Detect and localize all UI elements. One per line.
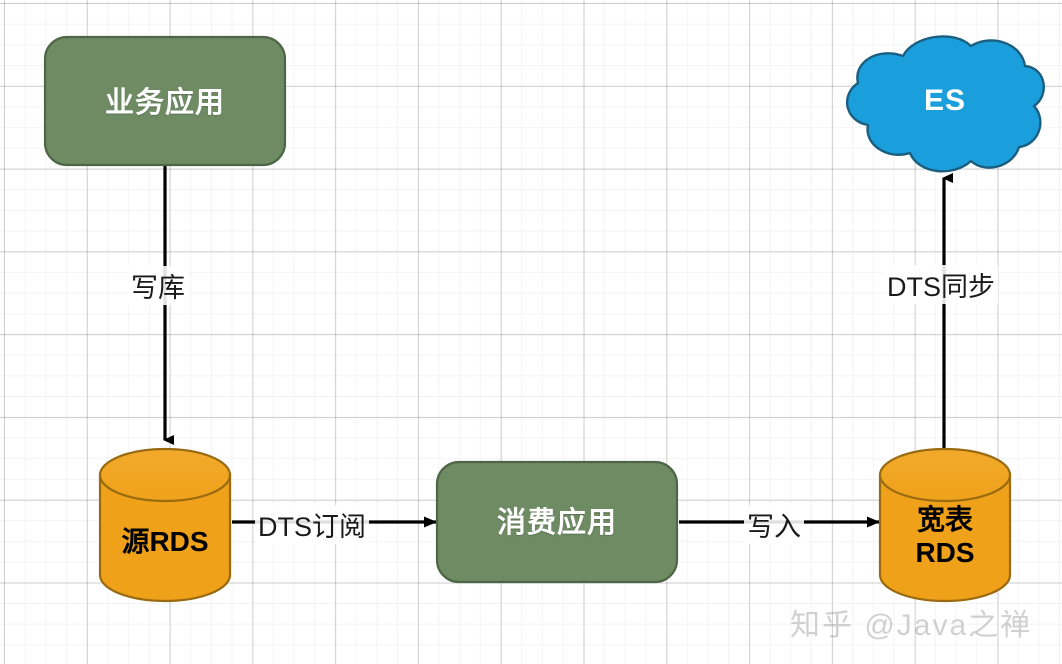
- node-source-rds[interactable]: [100, 449, 230, 601]
- consumer-app-shape[interactable]: [437, 462, 677, 582]
- node-es[interactable]: [847, 36, 1044, 171]
- node-wide-table-rds[interactable]: [880, 449, 1010, 601]
- diagram-canvas: 业务应用 ES 源RDS 消费应用 宽表 RDS 写库 DTS订阅 写入 DTS…: [0, 0, 1062, 664]
- business-app-shape[interactable]: [45, 37, 285, 165]
- wide-table-rds-top[interactable]: [880, 449, 1010, 501]
- node-consumer-app[interactable]: [437, 462, 677, 582]
- node-business-app[interactable]: [45, 37, 285, 165]
- es-cloud-shape[interactable]: [847, 36, 1044, 171]
- source-rds-top[interactable]: [100, 449, 230, 501]
- diagram-vector-layer: [0, 0, 1062, 664]
